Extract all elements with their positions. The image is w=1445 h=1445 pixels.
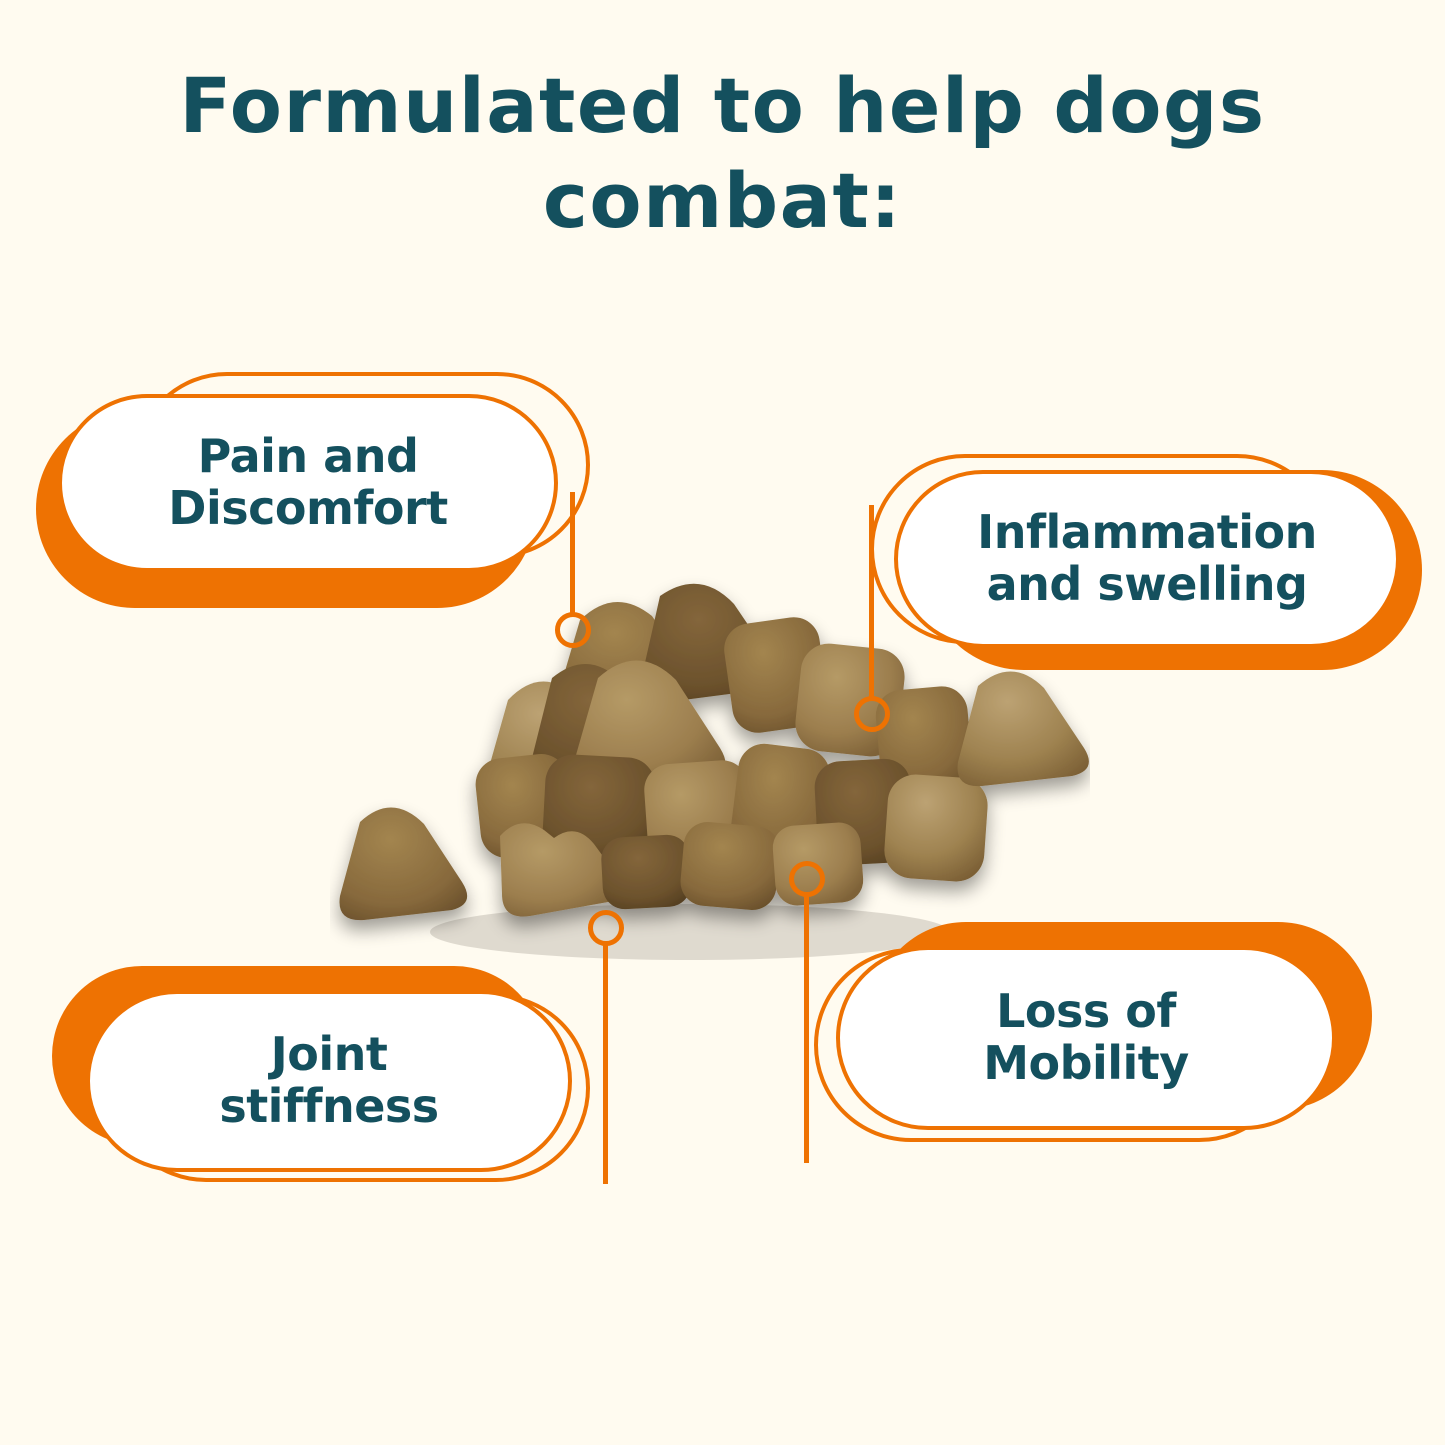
callout-card[interactable]: Loss of Mobility (836, 946, 1336, 1130)
callout-joint-stiffness[interactable]: Joint stiffness (52, 962, 612, 1192)
callout-pain-and-discomfort[interactable]: Pain and Discomfort (18, 372, 593, 612)
infographic-canvas: Formulated to help dogs combat: (0, 0, 1445, 1445)
callout-label: Pain and Discomfort (168, 431, 447, 534)
callout-label: Inflammation and swelling (977, 507, 1317, 610)
callout-card[interactable]: Joint stiffness (86, 990, 572, 1172)
callout-label: Joint stiffness (219, 1029, 438, 1132)
callout-card[interactable]: Pain and Discomfort (58, 394, 558, 572)
callout-loss-of-mobility[interactable]: Loss of Mobility (806, 916, 1376, 1156)
callout-label: Loss of Mobility (983, 986, 1189, 1089)
page-title: Formulated to help dogs combat: (110, 58, 1335, 248)
callout-card[interactable]: Inflammation and swelling (894, 470, 1400, 648)
callout-inflammation-and-swelling[interactable]: Inflammation and swelling (862, 448, 1434, 678)
